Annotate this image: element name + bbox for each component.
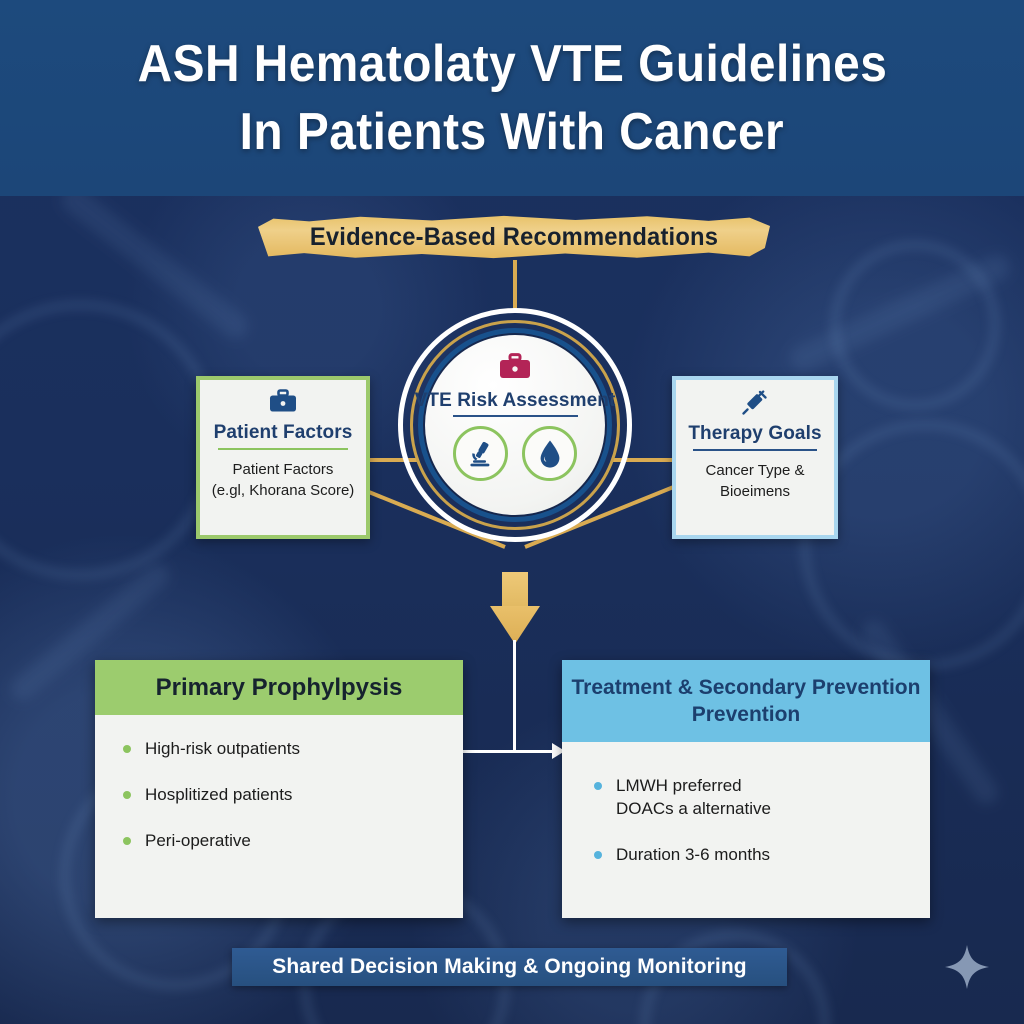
divider bbox=[218, 448, 347, 450]
sidebar-title-therapy-goals: Therapy Goals bbox=[688, 423, 821, 445]
list-item: High-risk outpatients bbox=[121, 737, 463, 760]
connector-arrow-to-cards bbox=[513, 640, 516, 752]
hub-icon-row bbox=[453, 426, 577, 481]
sidebar-item-therapy-goals[interactable]: Therapy Goals Cancer Type & Bioeimens bbox=[672, 376, 838, 539]
infographic-canvas: ASH Hematolaty VTE Guidelines In Patient… bbox=[0, 0, 1024, 1024]
sidebar-body-line2: (e.gl, Khorana Score) bbox=[212, 480, 355, 501]
vte-risk-assessment-hub[interactable]: VTE Risk Assessment bbox=[398, 308, 632, 542]
syringe-icon bbox=[741, 389, 769, 420]
card-header-primary-prophylaxis: Primary Prophylpysis bbox=[95, 660, 463, 715]
footer-banner: Shared Decision Making & Ongoing Monitor… bbox=[232, 948, 787, 986]
page-title-line2: In Patients With Cancer bbox=[240, 98, 784, 166]
microscope-icon[interactable] bbox=[453, 426, 508, 481]
briefcase-icon bbox=[498, 353, 532, 386]
bg-cell-4 bbox=[830, 240, 1000, 410]
sidebar-body-line1: Patient Factors bbox=[212, 459, 355, 480]
bullet-list-treatment: LMWH preferred DOACs a alternative Durat… bbox=[562, 742, 930, 866]
sidebar-title-patient-factors: Patient Factors bbox=[214, 422, 353, 444]
list-item: LMWH preferred DOACs a alternative bbox=[592, 774, 930, 820]
card-treatment-secondary-prevention[interactable]: Treatment & Secondary Prevention Prevent… bbox=[562, 660, 930, 918]
divider bbox=[693, 449, 816, 451]
sidebar-body-line2: Bioeimens bbox=[706, 481, 805, 502]
sidebar-body-patient-factors: Patient Factors (e.gl, Khorana Score) bbox=[212, 459, 355, 501]
header-banner: ASH Hematolaty VTE Guidelines In Patient… bbox=[0, 0, 1024, 196]
hub-title: VTE Risk Assessment bbox=[415, 390, 616, 412]
card-header-line2: Prevention bbox=[692, 701, 801, 728]
bg-fiber-2 bbox=[786, 251, 1015, 376]
footer-label: Shared Decision Making & Ongoing Monitor… bbox=[272, 955, 746, 979]
card-header-treatment-secondary-prevention: Treatment & Secondary Prevention Prevent… bbox=[562, 660, 930, 742]
connector-card-a-to-card-b bbox=[463, 750, 558, 753]
sidebar-item-patient-factors[interactable]: Patient Factors Patient Factors (e.gl, K… bbox=[196, 376, 370, 539]
blood-drop-icon[interactable] bbox=[522, 426, 577, 481]
sidebar-body-therapy-goals: Cancer Type & Bioeimens bbox=[706, 460, 805, 502]
four-point-star-icon bbox=[944, 944, 990, 990]
card-header-line1: Treatment & Secondary Prevention bbox=[572, 674, 921, 701]
evidence-banner-label: Evidence-Based Recommendations bbox=[271, 214, 757, 260]
arrow-head bbox=[490, 606, 540, 644]
hub-inner-disc: VTE Risk Assessment bbox=[425, 335, 605, 515]
briefcase-icon bbox=[268, 389, 298, 419]
bg-cell-1 bbox=[0, 300, 220, 580]
card-primary-prophylaxis[interactable]: Primary Prophylpysis High-risk outpatien… bbox=[95, 660, 463, 918]
divider bbox=[453, 415, 578, 417]
list-item: Peri-operative bbox=[121, 829, 463, 852]
bullet-list-primary-prophylaxis: High-risk outpatients Hosplitized patien… bbox=[95, 715, 463, 852]
evidence-banner: Evidence-Based Recommendations bbox=[258, 214, 770, 260]
sidebar-body-line1: Cancer Type & bbox=[706, 460, 805, 481]
list-item: Hosplitized patients bbox=[121, 783, 463, 806]
flow-arrow-down-icon bbox=[490, 572, 540, 644]
connector-banner-to-hub bbox=[513, 260, 517, 312]
bg-fiber-1 bbox=[56, 182, 253, 344]
list-item: Duration 3-6 months bbox=[592, 843, 930, 866]
page-title-line1: ASH Hematolaty VTE Guidelines bbox=[137, 30, 887, 98]
